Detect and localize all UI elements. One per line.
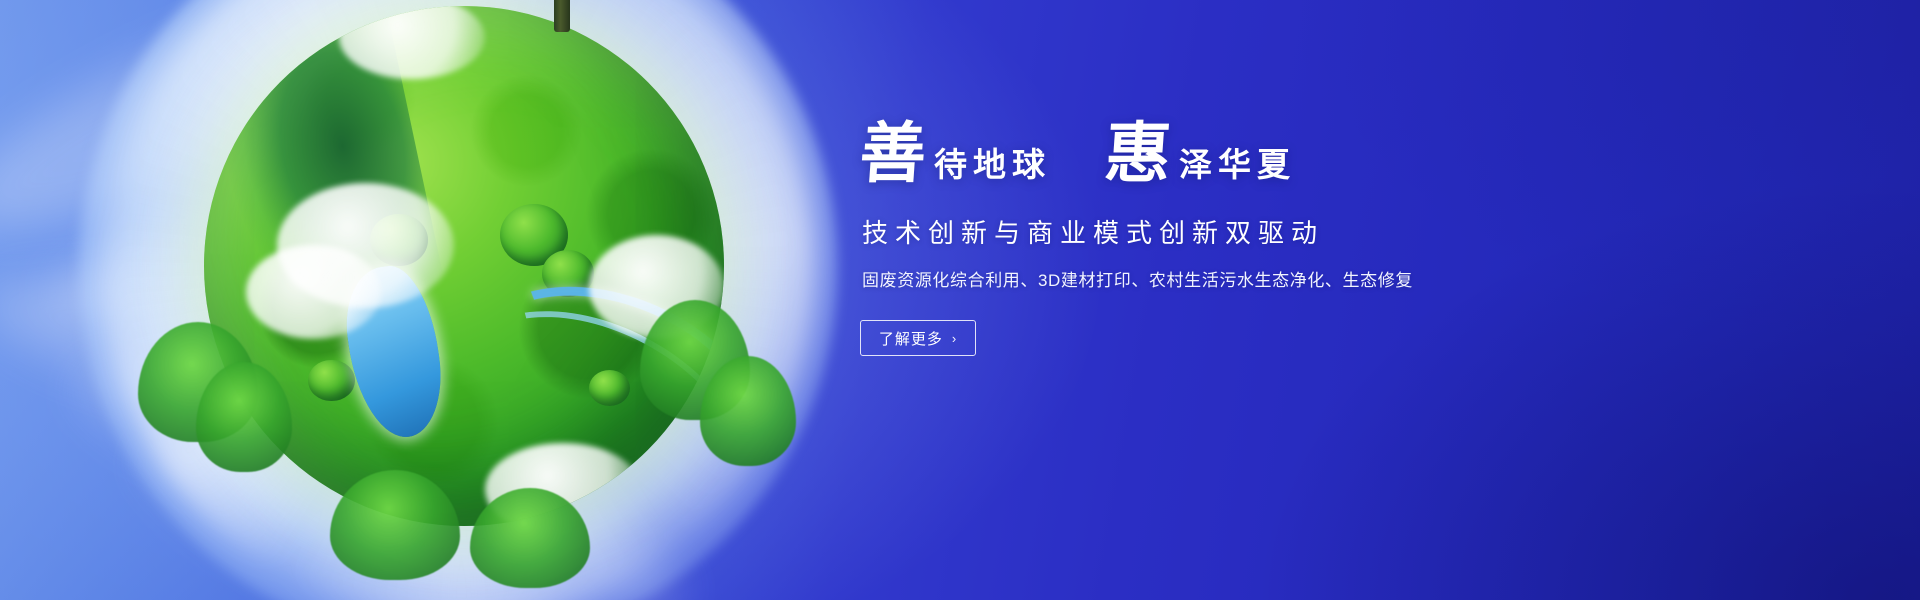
chevron-right-icon: › — [952, 332, 957, 345]
hero-banner: 善 待地球 惠 泽华夏 技术创新与商业模式创新双驱动 固废资源化综合利用、3D建… — [0, 0, 1920, 600]
tree-trunk — [554, 0, 570, 32]
bush-icon — [308, 360, 355, 402]
banner-description: 固废资源化综合利用、3D建材打印、农村生活污水生态净化、生态修复 — [862, 267, 1480, 294]
globe-illustration — [78, 0, 838, 600]
headline-char-hui: 惠 — [1103, 120, 1174, 186]
headline-char-shan: 善 — [858, 120, 929, 186]
headline-text-daidiqiu: 待地球 — [934, 148, 1051, 181]
banner-subtitle: 技术创新与商业模式创新双驱动 — [862, 214, 1480, 253]
banner-content: 善 待地球 惠 泽华夏 技术创新与商业模式创新双驱动 固废资源化综合利用、3D建… — [860, 120, 1480, 356]
tree-icon — [448, 0, 688, 20]
hot-air-balloon-icon — [314, 0, 358, 4]
headline-text-zehuaxia: 泽华夏 — [1179, 148, 1296, 181]
learn-more-label: 了解更多 — [879, 328, 943, 349]
banner-headline: 善 待地球 惠 泽华夏 — [860, 120, 1480, 206]
learn-more-button[interactable]: 了解更多 › — [860, 320, 976, 356]
cloud-puff-icon — [246, 245, 381, 339]
